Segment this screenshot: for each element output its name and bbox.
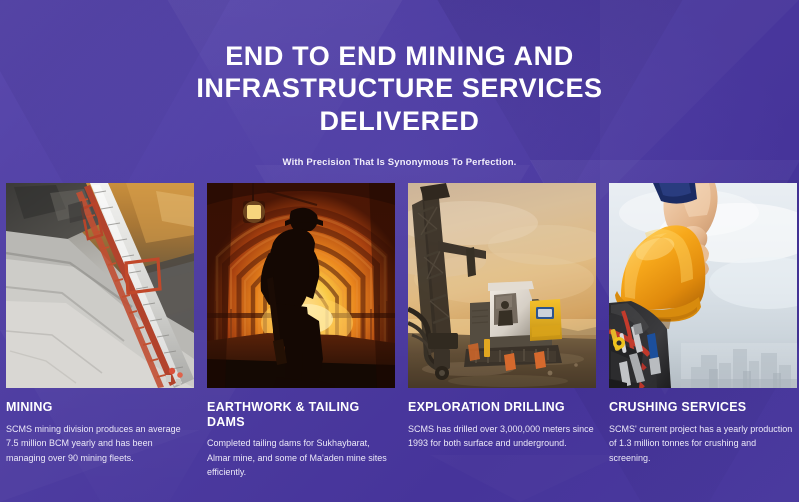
- hero-section: END TO END MINING AND INFRASTRUCTURE SER…: [0, 0, 799, 168]
- card-description: Completed tailing dams for Sukhaybarat, …: [207, 436, 395, 480]
- underground-tunnel-miner-photo: [207, 183, 395, 388]
- card-title: CRUSHING SERVICES: [609, 400, 797, 415]
- open-pit-mine-conveyor-photo: [6, 183, 194, 388]
- worker-hard-hat-photo: [609, 183, 797, 388]
- card-description: SCMS mining division produces an average…: [6, 422, 194, 466]
- card-title: MINING: [6, 400, 194, 415]
- card-description: SCMS' current project has a yearly produ…: [609, 422, 797, 466]
- card-title: EARTHWORK & TAILING DAMS: [207, 400, 395, 429]
- service-card-crushing-services[interactable]: CRUSHING SERVICES SCMS' current project …: [609, 183, 797, 480]
- card-title: EXPLORATION DRILLING: [408, 400, 596, 415]
- service-cards-row: MINING SCMS mining division produces an …: [6, 183, 794, 480]
- service-card-mining[interactable]: MINING SCMS mining division produces an …: [6, 183, 194, 480]
- card-description: SCMS has drilled over 3,000,000 meters s…: [408, 422, 596, 451]
- hero-subtitle: With Precision That Is Synonymous To Per…: [0, 157, 799, 168]
- page-title: END TO END MINING AND INFRASTRUCTURE SER…: [0, 40, 799, 137]
- service-card-exploration-drilling[interactable]: EXPLORATION DRILLING SCMS has drilled ov…: [408, 183, 596, 480]
- page-root: END TO END MINING AND INFRASTRUCTURE SER…: [0, 0, 799, 502]
- service-card-earthwork-tailing-dams[interactable]: EARTHWORK & TAILING DAMS Completed taili…: [207, 183, 395, 480]
- exploration-drill-rig-photo: [408, 183, 596, 388]
